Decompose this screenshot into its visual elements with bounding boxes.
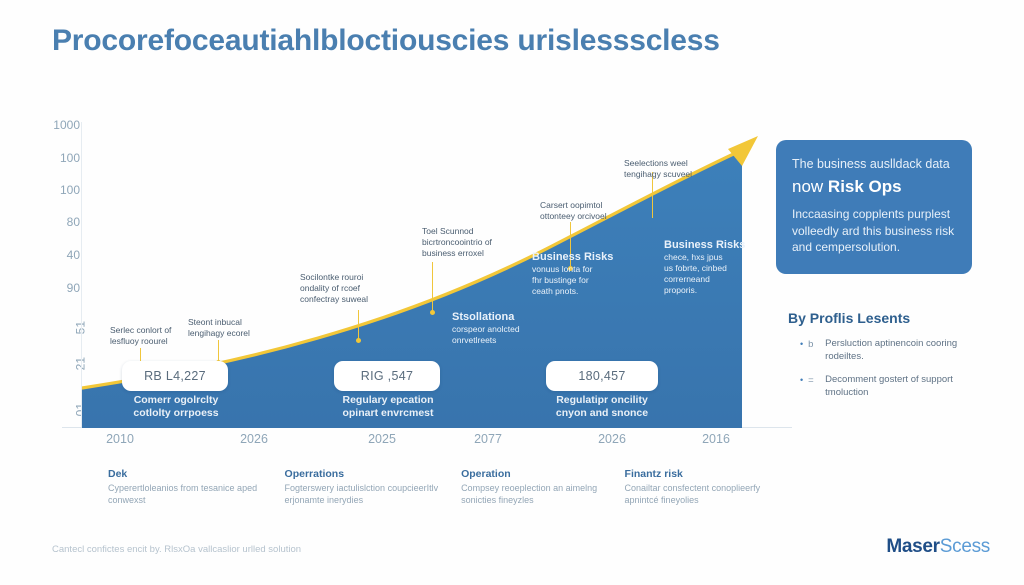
annotation-9-line4: proporis. [664, 285, 776, 296]
bullets-section-title: By Proflis Lesents [788, 310, 910, 326]
value-pill-1-value: RB L4,227 [144, 369, 206, 383]
chart-annotation-3: Socilontke rouroi ondality of rcoef conf… [300, 272, 410, 305]
y-tick-0: 1000 [53, 118, 80, 132]
bullet-text: Decomment gostert of support tmoluction [825, 374, 990, 399]
value-pill-1[interactable]: RB L4,227 [122, 361, 228, 391]
legend-item-0-head: Dek [108, 468, 267, 480]
footnote: Cantecl confictes encit by. RlsxOa vallc… [52, 544, 301, 555]
bullet-glyph-icon: b [808, 338, 820, 351]
chart-annotation-8: Business Risks vonuus lonta for fhr bust… [532, 252, 644, 297]
chart-annotation-4: Toel Scunnod bicrtroncoointrio of busine… [422, 226, 532, 259]
chart-annotation-7: Stsollationa corspeor anolcted onrvetlre… [452, 312, 564, 346]
brand-logo: MaserScess [886, 536, 990, 558]
legend-item-1-body: Fogterswery iactulislction coupcieerItlv… [285, 483, 444, 506]
bullets-list: • b Persluction aptinencoin cooring rode… [800, 338, 990, 410]
legend-item-3-body: Conailtar consfectent conoplieerfy apnin… [625, 483, 770, 506]
legend-item-1-head: Operrations [285, 468, 444, 480]
annotation-3-line2: ondality of rcoef [300, 283, 410, 294]
callout-line-2-strong: Risk Ops [828, 177, 902, 196]
leader-dot-4 [430, 310, 435, 315]
value-pill-2-caption-line2: opinart envrcmest [313, 407, 463, 420]
value-pill-1-caption-line2: cotlolty orrpoess [101, 407, 251, 420]
value-pill-3-caption-line2: cnyon and snonce [527, 407, 677, 420]
y-tick-5: 90 [67, 281, 80, 295]
annotation-9-head: Business Risks [664, 240, 776, 251]
x-tick-3: 2077 [474, 432, 502, 446]
value-pill-2-value: RIG ,547 [361, 369, 413, 383]
bullet-dot-icon: • [800, 374, 803, 387]
value-pill-2-caption-line1: Regulary epcation [313, 394, 463, 407]
list-item[interactable]: • b Persluction aptinencoin cooring rode… [800, 338, 990, 363]
x-tick-4: 2026 [598, 432, 626, 446]
y-tick-3: 80 [67, 215, 80, 229]
callout-line-2: now Risk Ops [792, 176, 956, 198]
value-pill-3-caption-line1: Regulatipr oncility [527, 394, 677, 407]
legend: Dek Cyperertloleanios from tesanice aped… [108, 468, 788, 506]
legend-item-2-head: Operation [461, 468, 606, 480]
annotation-5-line2: ottonteey orcivoel [540, 211, 650, 222]
brand-logo-secondary: Scess [940, 536, 990, 557]
x-axis: 2010 2026 2025 2077 2026 2016 [82, 432, 797, 458]
annotation-6-line2: tengihagy scuveel [624, 169, 734, 180]
slide-root: Procorefoceautiahlbloctiouscies urisless… [0, 0, 1024, 585]
legend-item-0-body: Cyperertloleanios from tesanice aped con… [108, 483, 267, 506]
value-pill-1-caption-line1: Comerr ogolrclty [101, 394, 251, 407]
annotation-7-head: Stsollationa [452, 312, 564, 323]
annotation-3-line1: Socilontke rouroi [300, 272, 410, 283]
leader-line-2 [218, 340, 219, 362]
y-axis: 1000 100 100 80 40 90 51 21 01 [24, 118, 80, 428]
chart-annotation-2: Steont inbucal lengihagy ecorel [188, 317, 298, 339]
leader-line-3 [358, 310, 359, 340]
value-pill-1-caption: Comerr ogolrclty cotlolty orrpoess [101, 394, 251, 419]
annotation-5-line1: Carsert oopimtol [540, 200, 650, 211]
leader-line-4 [432, 262, 433, 312]
value-pill-2[interactable]: RIG ,547 [334, 361, 440, 391]
annotation-9-line1: chece, hxs jpus [664, 252, 776, 263]
annotation-2-line2: lengihagy ecorel [188, 328, 298, 339]
x-tick-5: 2016 [702, 432, 730, 446]
x-tick-0: 2010 [106, 432, 134, 446]
bullet-text: Persluction aptinencoin cooring rodeilte… [825, 338, 990, 363]
chart-annotation-9: Business Risks chece, hxs jpus us fobrte… [664, 240, 776, 296]
annotation-3-line3: confectray suweal [300, 294, 410, 305]
legend-item-3-head: Finantz risk [625, 468, 770, 480]
y-tick-1: 100 [60, 151, 80, 165]
annotation-8-line1: vonuus lonta for [532, 264, 644, 275]
legend-item-1: Operrations Fogterswery iactulislction c… [285, 468, 462, 506]
annotation-9-line3: correrneand [664, 274, 776, 285]
value-pill-3-caption: Regulatipr oncility cnyon and snonce [527, 394, 677, 419]
bullet-dot-icon: • [800, 338, 803, 351]
list-item[interactable]: • = Decomment gostert of support tmoluct… [800, 374, 990, 399]
annotation-2-line1: Steont inbucal [188, 317, 298, 328]
legend-item-3: Finantz risk Conailtar consfectent conop… [625, 468, 788, 506]
leader-dot-3 [356, 338, 361, 343]
page-title: Procorefoceautiahlbloctiouscies urisless… [52, 24, 720, 58]
callout-line-2-prefix: now [792, 177, 828, 196]
annotation-4-line2: bicrtroncoointrio of [422, 237, 532, 248]
annotation-6-line1: Seelections weel [624, 158, 734, 169]
annotation-8-line3: ceath pnots. [532, 286, 644, 297]
callout-line-1: The business auslldack data [792, 156, 956, 172]
annotation-4-line3: business erroxel [422, 248, 532, 259]
y-tick-4: 40 [67, 248, 80, 262]
y-tick-2: 100 [60, 183, 80, 197]
brand-logo-primary: Maser [886, 536, 939, 557]
annotation-7-line2: onrvetlreets [452, 335, 564, 346]
chart-annotation-5: Carsert oopimtol ottonteey orcivoel [540, 200, 650, 222]
annotation-7-line1: corspeor anolcted [452, 324, 564, 335]
insight-callout-card: The business auslldack data now Risk Ops… [776, 140, 972, 274]
annotation-8-line2: fhr bustinge for [532, 275, 644, 286]
x-tick-2: 2025 [368, 432, 396, 446]
legend-item-2: Operation Compsey reoeplection an aimeln… [461, 468, 624, 506]
callout-body: Inccaasing copplents purplest volleedly … [792, 206, 956, 256]
legend-item-2-body: Compsey reoeplection an aimelng sonictie… [461, 483, 606, 506]
chart-annotation-6: Seelections weel tengihagy scuveel [624, 158, 734, 180]
x-tick-1: 2026 [240, 432, 268, 446]
annotation-8-head: Business Risks [532, 252, 644, 263]
bullet-glyph-icon: = [808, 374, 820, 387]
value-pill-3-value: 180,457 [578, 369, 625, 383]
annotation-4-line1: Toel Scunnod [422, 226, 532, 237]
value-pill-3[interactable]: 180,457 [546, 361, 658, 391]
value-pill-2-caption: Regulary epcation opinart envrcmest [313, 394, 463, 419]
legend-item-0: Dek Cyperertloleanios from tesanice aped… [108, 468, 285, 506]
annotation-9-line2: us fobrte, cinbed [664, 263, 776, 274]
